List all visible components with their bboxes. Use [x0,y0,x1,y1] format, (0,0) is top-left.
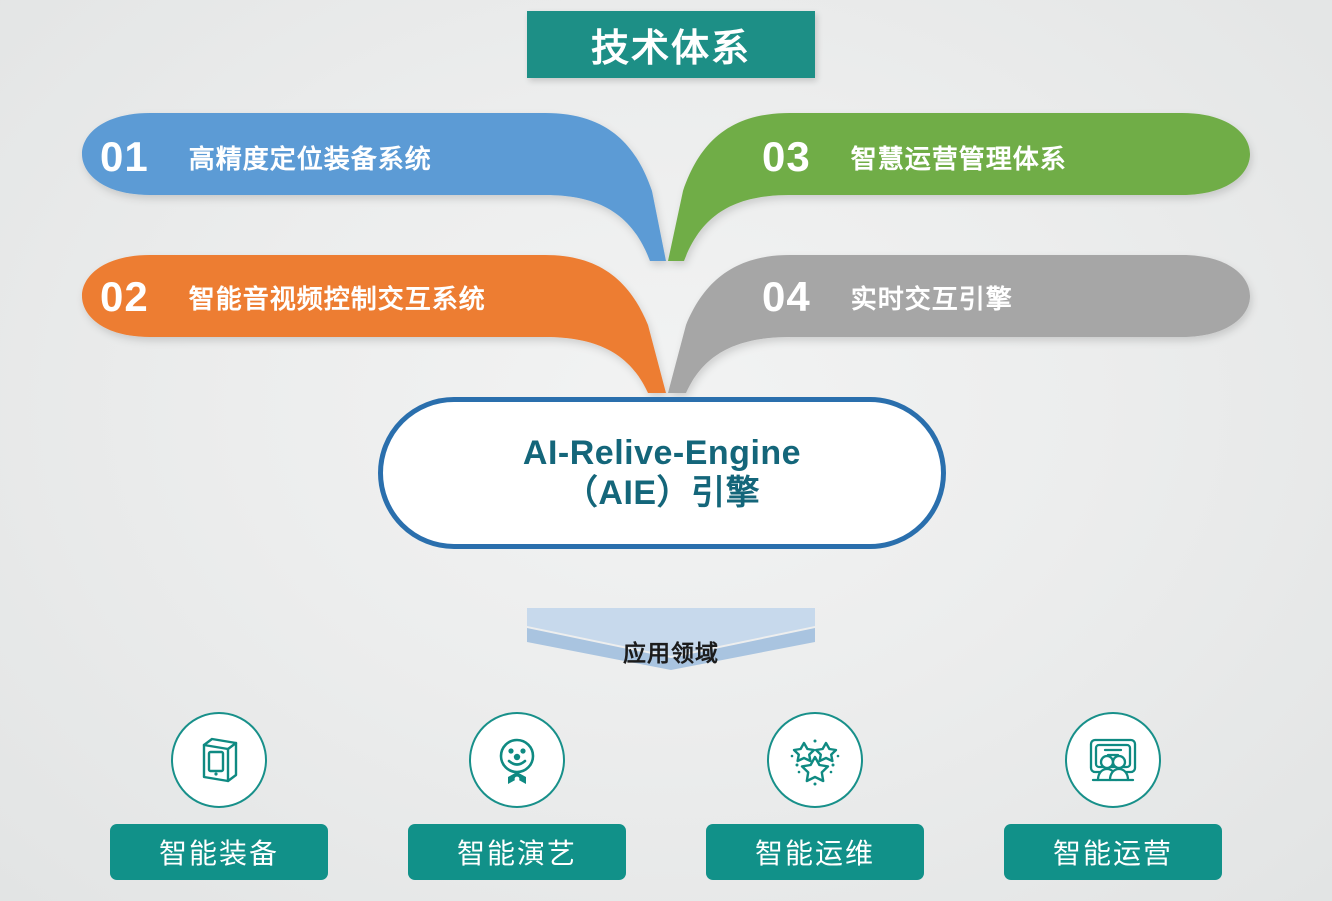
application-header-chevron: 应用领域 [527,608,815,670]
core-engine-bubble[interactable]: AI-Relive-Engine （AIE）引擎 [378,397,946,549]
application-pill-2[interactable]: 智能演艺 [408,824,626,880]
ribbon-funnel-diagram: 01 高精度定位装备系统 02 智能音视频控制交互系统 03 智慧运营管理体系 … [0,95,1332,425]
application-card-1[interactable]: 智能装备 [110,712,328,892]
ribbon-02-shape[interactable] [82,255,666,393]
application-pill-3[interactable]: 智能运维 [706,824,924,880]
application-label-4: 智能运营 [1053,832,1173,872]
ribbon-01-shape[interactable] [82,113,666,261]
ribbon-04-shape[interactable] [668,255,1250,393]
application-cards-row: 智能装备 智能演艺 [0,712,1332,892]
ribbon-03-shape[interactable] [668,113,1250,261]
application-label-1: 智能装备 [159,832,279,872]
clown-face-icon [469,712,565,808]
application-card-2[interactable]: 智能演艺 [408,712,626,892]
people-screen-icon [1065,712,1161,808]
page-title-banner: 技术体系 [527,11,815,78]
core-engine-name-en: AI-Relive-Engine [523,433,801,473]
stars-sparkle-icon [767,712,863,808]
application-card-3[interactable]: 智能运维 [706,712,924,892]
funnel-svg [0,95,1332,425]
page-title: 技术体系 [591,17,751,72]
application-header-label: 应用领域 [527,634,815,668]
application-label-2: 智能演艺 [457,832,577,872]
tablet-device-icon [171,712,267,808]
application-card-4[interactable]: 智能运营 [1004,712,1222,892]
application-label-3: 智能运维 [755,832,875,872]
application-pill-4[interactable]: 智能运营 [1004,824,1222,880]
application-pill-1[interactable]: 智能装备 [110,824,328,880]
core-engine-name-cn: （AIE）引擎 [564,473,760,513]
